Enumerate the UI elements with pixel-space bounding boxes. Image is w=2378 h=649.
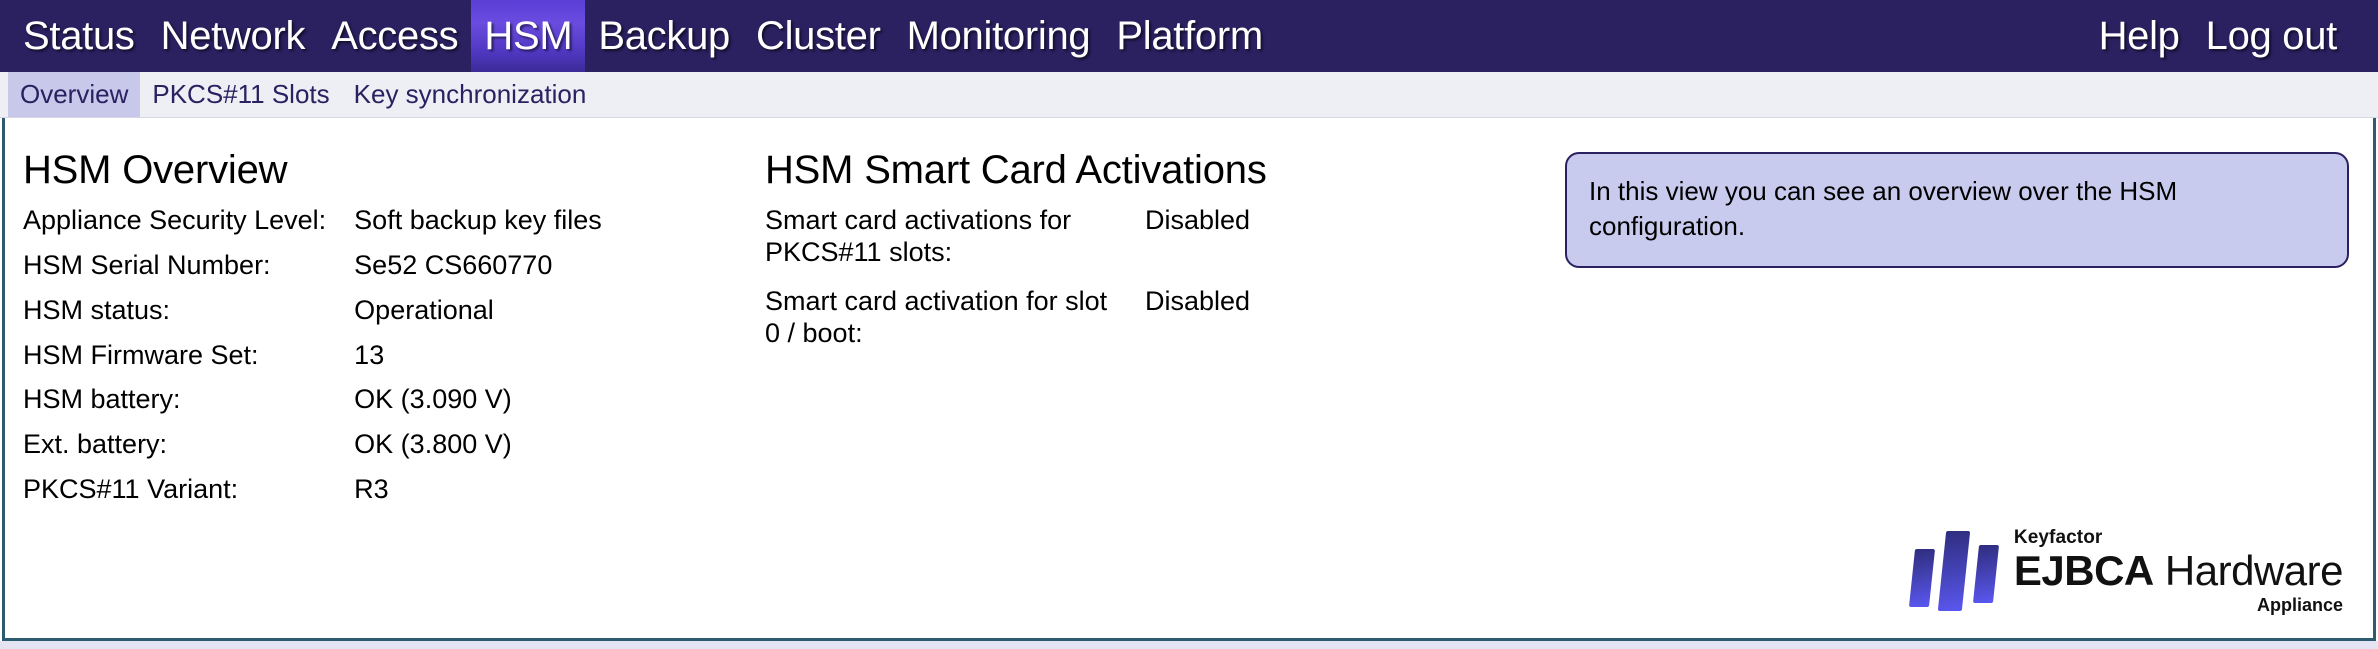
nav-item-access[interactable]: Access [318, 0, 471, 72]
label-hsm-firmware-set: HSM Firmware Set: [23, 340, 354, 385]
top-navigation-bar: Status Network Access HSM Backup Cluster… [0, 0, 2378, 72]
value-hsm-status: Operational [354, 295, 602, 340]
table-row: HSM status: Operational [23, 295, 602, 340]
value-hsm-serial-number: Se52 CS660770 [354, 250, 602, 295]
product-logo: Keyfactor EJBCA Hardware Appliance [1910, 528, 2343, 614]
nav-item-cluster[interactable]: Cluster [743, 0, 894, 72]
value-ext-battery: OK (3.800 V) [354, 429, 602, 474]
label-smart-card-activation-slot0-boot: Smart card activation for slot 0 / boot: [765, 286, 1145, 367]
value-smart-card-activation-slot0-boot: Disabled [1145, 286, 1250, 367]
nav-item-backup[interactable]: Backup [585, 0, 743, 72]
label-smart-card-activations-pkcs11-slots: Smart card activations for PKCS#11 slots… [765, 205, 1145, 286]
hsm-overview-title: HSM Overview [23, 148, 765, 193]
table-row: Appliance Security Level: Soft backup ke… [23, 205, 602, 250]
tab-key-synchronization[interactable]: Key synchronization [342, 72, 599, 117]
smart-card-activations-title: HSM Smart Card Activations [765, 148, 1565, 193]
logo-text-block: Keyfactor EJBCA Hardware Appliance [2014, 528, 2343, 614]
value-smart-card-activations-pkcs11-slots: Disabled [1145, 205, 1250, 286]
tab-overview[interactable]: Overview [8, 72, 140, 117]
label-hsm-battery: HSM battery: [23, 384, 354, 429]
nav-item-network[interactable]: Network [148, 0, 319, 72]
logo-keyfactor-label: Keyfactor [2014, 528, 2343, 547]
nav-item-status[interactable]: Status [10, 0, 148, 72]
smart-card-activations-section: HSM Smart Card Activations Smart card ac… [765, 148, 1565, 638]
logo-appliance-label: Appliance [2014, 596, 2343, 614]
label-appliance-security-level: Appliance Security Level: [23, 205, 354, 250]
nav-item-hsm[interactable]: HSM [471, 0, 585, 72]
top-nav-secondary-items: Help Log out [2086, 0, 2378, 72]
keyfactor-bars-icon [1910, 529, 1996, 613]
top-nav-primary-items: Status Network Access HSM Backup Cluster… [10, 0, 1276, 72]
value-appliance-security-level: Soft backup key files [354, 205, 602, 250]
main-content-panel: HSM Overview Appliance Security Level: S… [2, 118, 2376, 641]
info-box: In this view you can see an overview ove… [1565, 152, 2349, 268]
value-pkcs11-variant: R3 [354, 474, 602, 519]
hsm-overview-section: HSM Overview Appliance Security Level: S… [5, 148, 765, 638]
nav-item-help[interactable]: Help [2086, 0, 2193, 72]
logo-product-name: EJBCA Hardware [2014, 550, 2343, 592]
label-hsm-status: HSM status: [23, 295, 354, 340]
value-hsm-battery: OK (3.090 V) [354, 384, 602, 429]
smart-card-activations-table: Smart card activations for PKCS#11 slots… [765, 205, 1250, 366]
label-hsm-serial-number: HSM Serial Number: [23, 250, 354, 295]
nav-item-log-out[interactable]: Log out [2193, 0, 2350, 72]
table-row: Ext. battery: OK (3.800 V) [23, 429, 602, 474]
hsm-overview-table: Appliance Security Level: Soft backup ke… [23, 205, 602, 519]
tab-pkcs11-slots[interactable]: PKCS#11 Slots [140, 72, 341, 117]
label-pkcs11-variant: PKCS#11 Variant: [23, 474, 354, 519]
nav-item-monitoring[interactable]: Monitoring [894, 0, 1104, 72]
nav-item-platform[interactable]: Platform [1103, 0, 1276, 72]
value-hsm-firmware-set: 13 [354, 340, 602, 385]
sub-navigation-tabs: Overview PKCS#11 Slots Key synchronizati… [0, 72, 2378, 118]
table-row: HSM Serial Number: Se52 CS660770 [23, 250, 602, 295]
table-row: HSM Firmware Set: 13 [23, 340, 602, 385]
logo-hardware-text: Hardware [2165, 547, 2343, 594]
table-row: Smart card activation for slot 0 / boot:… [765, 286, 1250, 367]
table-row: Smart card activations for PKCS#11 slots… [765, 205, 1250, 286]
table-row: PKCS#11 Variant: R3 [23, 474, 602, 519]
table-row: HSM battery: OK (3.090 V) [23, 384, 602, 429]
logo-ejbca-text: EJBCA [2014, 547, 2154, 594]
label-ext-battery: Ext. battery: [23, 429, 354, 474]
